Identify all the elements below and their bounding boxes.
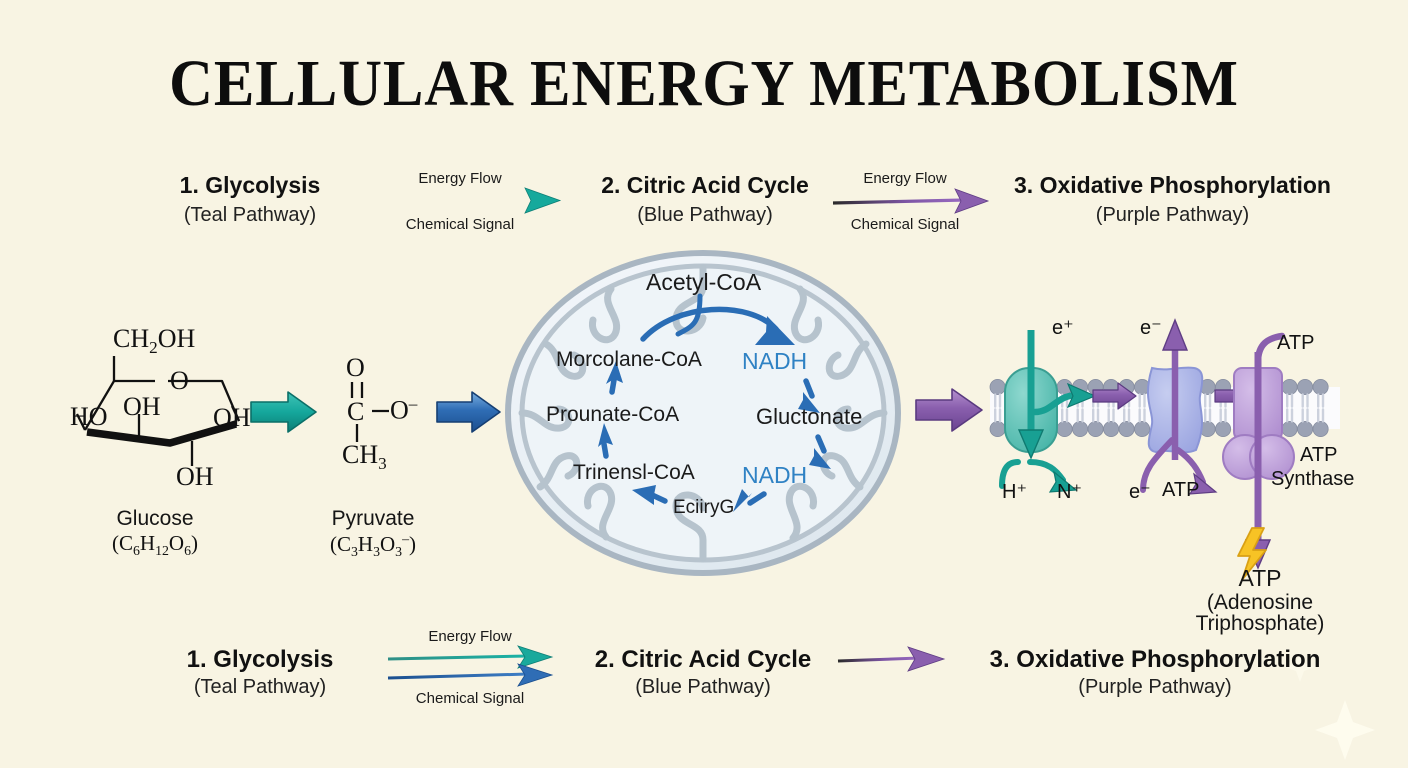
diagram-canvas: CELLULAR ENERGY METABOLISM [0,0,1408,768]
etc-label-electron-mid-top: e⁻ [1140,315,1162,340]
cycle-node-morcolane-coa: Morcolane-CoA [556,348,702,372]
atp-output-fullname-line2: Triphosphate) [1165,612,1355,636]
footer-stage-2-sub: (Blue Pathway) [558,676,848,699]
etc-label-atp-top-right: ATP [1277,332,1314,355]
footer-stage-1-name: 1. Glycolysis [90,646,430,674]
header-connector-2-top-label: Energy Flow [820,170,990,187]
atp-output-fullname-line1: (Adenosine [1165,591,1355,615]
cycle-node-nadh-top: NADH [742,348,807,375]
footer-connector-1-top-label: Energy Flow [385,628,555,645]
footer-stage-1-sub: (Teal Pathway) [90,676,430,699]
arrow-mitochondrion-to-etc [916,389,982,431]
glucose-formula: (C6H12O6) [60,531,250,559]
etc-label-electron-bottom: e⁻ [1129,479,1151,504]
footer-stage-3-sub: (Purple Pathway) [960,676,1350,699]
etc-label-n-out: N⁺ [1057,479,1082,504]
header-connector-2-bottom-label: Chemical Signal [820,216,990,233]
etc-label-atp-bottom: ATP [1162,479,1199,502]
header-stage-1-sub: (Teal Pathway) [80,204,420,227]
arrow-glucose-to-pyruvate [251,392,316,432]
glucose-name: Glucose [60,507,250,531]
arrow-pyruvate-to-mitochondrion [437,392,500,432]
footer-connector-arrow-2 [838,647,944,671]
header-connector-1-top-label: Energy Flow [375,170,545,187]
pyruvate-name: Pyruvate [283,507,463,531]
glucose-oh-right-label: OH [213,403,251,433]
header-connector-1-bottom-label: Chemical Signal [375,216,545,233]
pyruvate-formula: (C3H3O3–) [283,531,463,560]
etc-label-atp-synthase-line2: Synthase [1271,468,1354,491]
header-stage-2-sub: (Blue Pathway) [560,204,850,227]
pyruvate-carboxylate-oxygen: O– [390,394,417,426]
pyruvate-methyl: CH3 [342,440,387,474]
cycle-node-prounate-coa: Prounate-CoA [546,403,679,427]
cycle-input-acetyl-coa: Acetyl-CoA [646,269,761,296]
glucose-ch2oh-label: CH2OH [113,324,195,358]
header-stage-1-name: 1. Glycolysis [80,172,420,199]
footer-connector-1-bottom-label: Chemical Signal [385,690,555,707]
header-connector-arrow-2 [833,189,988,213]
header-stage-2-name: 2. Citric Acid Cycle [560,172,850,199]
etc-label-atp-synthase-line1: ATP [1300,444,1337,467]
header-stage-3-name: 3. Oxidative Phosphorylation [985,172,1360,199]
cycle-node-gluctonate: Gluctonate [756,404,862,430]
footer-stage-3-name: 3. Oxidative Phosphorylation [960,646,1350,674]
pyruvate-carbonyl-oxygen: O [346,353,365,383]
footer-stage-2-name: 2. Citric Acid Cycle [558,646,848,674]
glucose-oh-bottom-label: OH [176,462,214,492]
glucose-ho-left-label: HO [70,402,108,432]
glucose-oh-top-label: OH [123,392,161,422]
cycle-node-trinensl-coa: Trinensl-CoA [573,461,695,485]
glucose-ring-oxygen-label: O [170,366,189,396]
electron-transport-chain [990,320,1340,580]
header-stage-3-sub: (Purple Pathway) [985,204,1360,227]
etc-label-electron-in-top: e⁺ [1052,315,1074,340]
cycle-node-nadh-bottom: NADH [742,462,807,489]
pyruvate-central-carbon: C [347,397,364,427]
cycle-node-eciiryg: EciiryG [673,497,734,519]
atp-output-name: ATP [1165,566,1355,592]
etc-label-proton-out: H⁺ [1002,479,1027,504]
